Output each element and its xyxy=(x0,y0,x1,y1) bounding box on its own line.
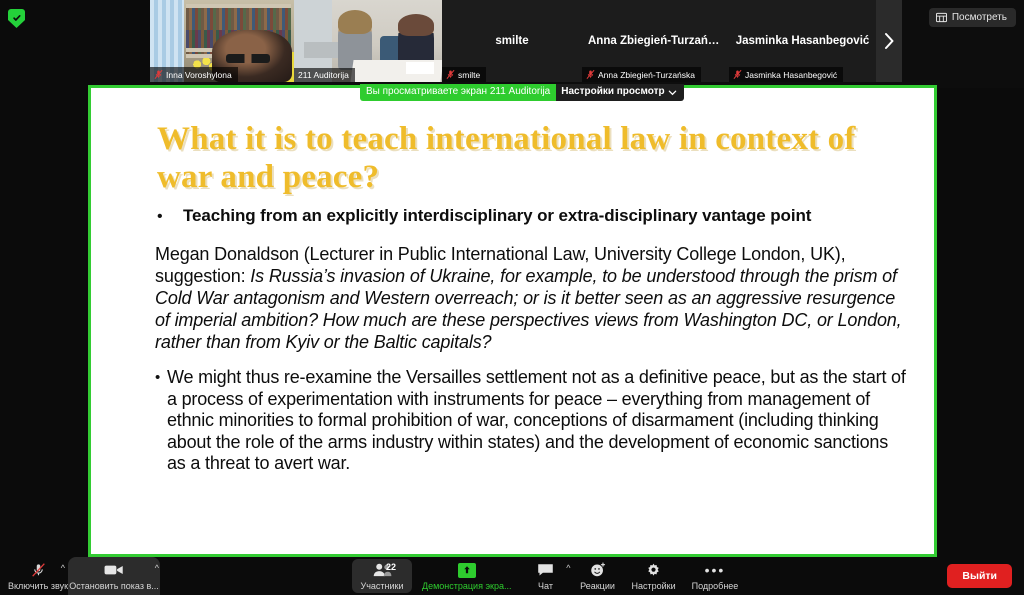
paper-decor xyxy=(406,62,434,74)
reactions-button[interactable]: Реакции xyxy=(572,557,624,595)
camera-icon xyxy=(104,562,124,579)
zoom-meeting-window: Inna Voroshylona 211 Auditorija smilte xyxy=(0,0,1024,595)
microphone-muted-icon xyxy=(586,69,595,80)
leave-meeting-button[interactable]: Выйти xyxy=(947,564,1012,588)
participant-name-text: smilte xyxy=(458,70,480,80)
participant-tile-jasminka-hasanbegovic[interactable]: Jasminka Hasanbegović Jasminka Hasanbego… xyxy=(729,0,876,82)
meeting-toolbar: Включить звук ^ Остановить показ в... ^ xyxy=(0,557,1024,595)
microphone-muted-icon xyxy=(154,69,163,80)
settings-button[interactable]: Настройки xyxy=(624,557,684,595)
gear-icon xyxy=(646,562,661,579)
slide-bullet-2: • We might thus re-examine the Versaille… xyxy=(155,367,906,475)
participant-center-name: Anna Zbiegień-Turzańska xyxy=(582,35,729,47)
participant-name-text: Jasminka Hasanbegović xyxy=(745,70,837,80)
view-layout-button[interactable]: Посмотреть xyxy=(929,8,1016,27)
share-banner-message: Вы просматриваете экран 211 Auditorija xyxy=(360,84,556,101)
smiley-plus-icon xyxy=(590,562,606,579)
microphone-muted-icon xyxy=(733,69,742,80)
chat-button[interactable]: Чат ^ xyxy=(520,557,572,595)
slide-paragraph: Megan Donaldson (Lecturer in Public Inte… xyxy=(155,243,906,353)
settings-label: Настройки xyxy=(632,581,676,591)
video-toggle-button[interactable]: Остановить показ в... ^ xyxy=(68,557,160,595)
more-options-button[interactable]: ••• Подробнее xyxy=(684,557,747,595)
chat-options-chevron-icon[interactable]: ^ xyxy=(566,563,570,573)
encryption-indicator-area xyxy=(0,0,150,88)
participant-name-text: Anna Zbiegień-Turzańska xyxy=(598,70,695,80)
bullet-glyph: • xyxy=(155,206,173,227)
share-screen-label: Демонстрация экра... xyxy=(422,581,512,591)
grid-view-icon xyxy=(936,12,947,23)
slide-bullet-1-text: Teaching from an explicitly interdiscipl… xyxy=(173,206,811,226)
chat-label: Чат xyxy=(538,581,553,591)
participant-name-badge: Jasminka Hasanbegović xyxy=(729,67,843,82)
reactions-label: Реакции xyxy=(580,581,615,591)
person-hair-b xyxy=(398,14,434,36)
toolbar-center-group: 22 Участники Демонстрация экра... Чат ^ xyxy=(352,557,746,595)
chat-bubble-icon xyxy=(537,562,554,579)
view-button-label: Посмотреть xyxy=(952,12,1007,23)
participant-tile-anna-zbiegien-turzanska[interactable]: Anna Zbiegień-Turzańska Anna Zbiegień-Tu… xyxy=(582,0,729,82)
microphone-muted-icon xyxy=(31,562,46,579)
shared-screen-area[interactable]: What it is to teach international law in… xyxy=(88,85,937,557)
view-options-button[interactable]: Настройки просмотр xyxy=(556,84,683,101)
participants-count-badge: 22 xyxy=(386,562,396,572)
mute-toggle-label: Включить звук xyxy=(8,581,68,591)
participants-button[interactable]: 22 Участники xyxy=(352,559,412,593)
screen-share-banner: Вы просматриваете экран 211 Auditorija Н… xyxy=(360,84,684,101)
participants-label: Участники xyxy=(361,581,404,591)
participant-filmstrip: Inna Voroshylona 211 Auditorija smilte xyxy=(0,0,1024,88)
slide-body: • Teaching from an explicitly interdisci… xyxy=(155,206,906,475)
chevron-down-icon xyxy=(668,88,677,97)
presentation-slide: What it is to teach international law in… xyxy=(91,88,934,554)
view-options-label: Настройки просмотр xyxy=(561,86,664,98)
slide-paragraph-italic: Is Russia’s invasion of Ukraine, for exa… xyxy=(155,266,902,352)
ellipsis-glyph: ••• xyxy=(705,565,726,575)
glasses-decor xyxy=(226,54,270,63)
person-hair-a xyxy=(338,10,372,34)
chevron-right-icon[interactable] xyxy=(876,0,902,82)
participant-center-name: smilte xyxy=(442,35,582,47)
video-options-chevron-icon[interactable]: ^ xyxy=(155,563,159,573)
participant-name-badge: smilte xyxy=(442,67,486,82)
ellipsis-icon: ••• xyxy=(705,562,726,579)
shield-check-icon[interactable] xyxy=(8,9,25,28)
toolbar-right-group: Выйти xyxy=(947,564,1012,588)
participant-name-badge: Anna Zbiegień-Turzańska xyxy=(582,67,701,82)
participant-name-badge: Inna Voroshylona xyxy=(150,67,238,82)
participant-tile-211-auditorija[interactable]: 211 Auditorija xyxy=(294,0,442,82)
participant-center-name: Jasminka Hasanbegović xyxy=(729,35,876,47)
participant-name-text: Inna Voroshylona xyxy=(166,70,232,80)
slide-bullet-1: • Teaching from an explicitly interdisci… xyxy=(155,206,906,227)
more-options-label: Подробнее xyxy=(692,581,739,591)
slide-bullet-2-text: We might thus re-examine the Versailles … xyxy=(167,367,906,475)
toolbar-left-group: Включить звук ^ Остановить показ в... ^ xyxy=(0,557,160,595)
participant-name-text: 211 Auditorija xyxy=(298,70,349,80)
microphone-muted-icon xyxy=(446,69,455,80)
participant-tile-smilte[interactable]: smilte smilte xyxy=(442,0,582,82)
slide-title: What it is to teach international law in… xyxy=(157,120,906,196)
mute-toggle-button[interactable]: Включить звук ^ xyxy=(10,557,66,595)
participant-name-badge: 211 Auditorija xyxy=(294,68,355,82)
participant-tile-inna-voroshylona[interactable]: Inna Voroshylona xyxy=(150,0,294,82)
audio-options-chevron-icon[interactable]: ^ xyxy=(61,563,65,573)
bullet-glyph-2: • xyxy=(155,367,167,389)
share-screen-icon xyxy=(458,562,476,579)
video-toggle-label: Остановить показ в... xyxy=(69,581,158,591)
share-screen-button[interactable]: Демонстрация экра... xyxy=(414,557,520,595)
